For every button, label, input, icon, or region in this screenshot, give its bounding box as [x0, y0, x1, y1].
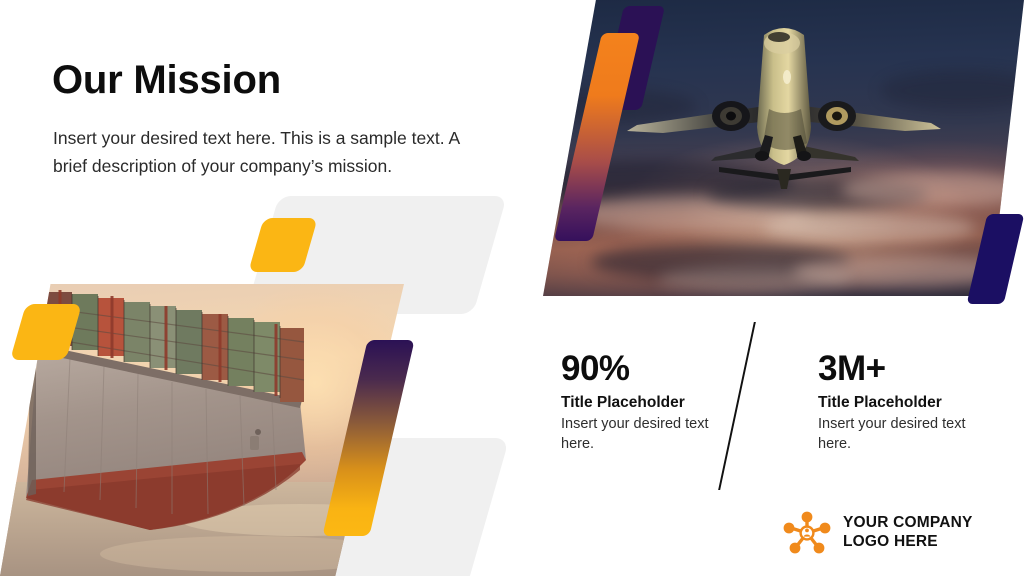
- stat-description: Insert your desired text here.: [561, 414, 731, 454]
- slide-canvas: Our Mission Insert your desired text her…: [0, 0, 1024, 576]
- stat-value: 90%: [561, 350, 731, 387]
- logo-text-line2: LOGO HERE: [843, 533, 973, 552]
- company-logo: YOUR COMPANY LOGO HERE: [782, 508, 973, 558]
- stat-description: Insert your desired text here.: [818, 414, 988, 454]
- mission-body-text: Insert your desired text here. This is a…: [53, 124, 485, 181]
- stat-title: Title Placeholder: [561, 393, 731, 412]
- page-title: Our Mission: [52, 58, 281, 102]
- logo-text: YOUR COMPANY LOGO HERE: [843, 514, 973, 552]
- network-person-icon: [782, 508, 832, 558]
- stat-title: Title Placeholder: [818, 393, 988, 412]
- stat-value: 3M+: [818, 350, 988, 387]
- logo-text-line1: YOUR COMPANY: [843, 514, 973, 533]
- airplane-silhouette: [619, 17, 949, 197]
- stat-block-1: 90% Title Placeholder Insert your desire…: [561, 350, 731, 454]
- stat-block-2: 3M+ Title Placeholder Insert your desire…: [818, 350, 988, 454]
